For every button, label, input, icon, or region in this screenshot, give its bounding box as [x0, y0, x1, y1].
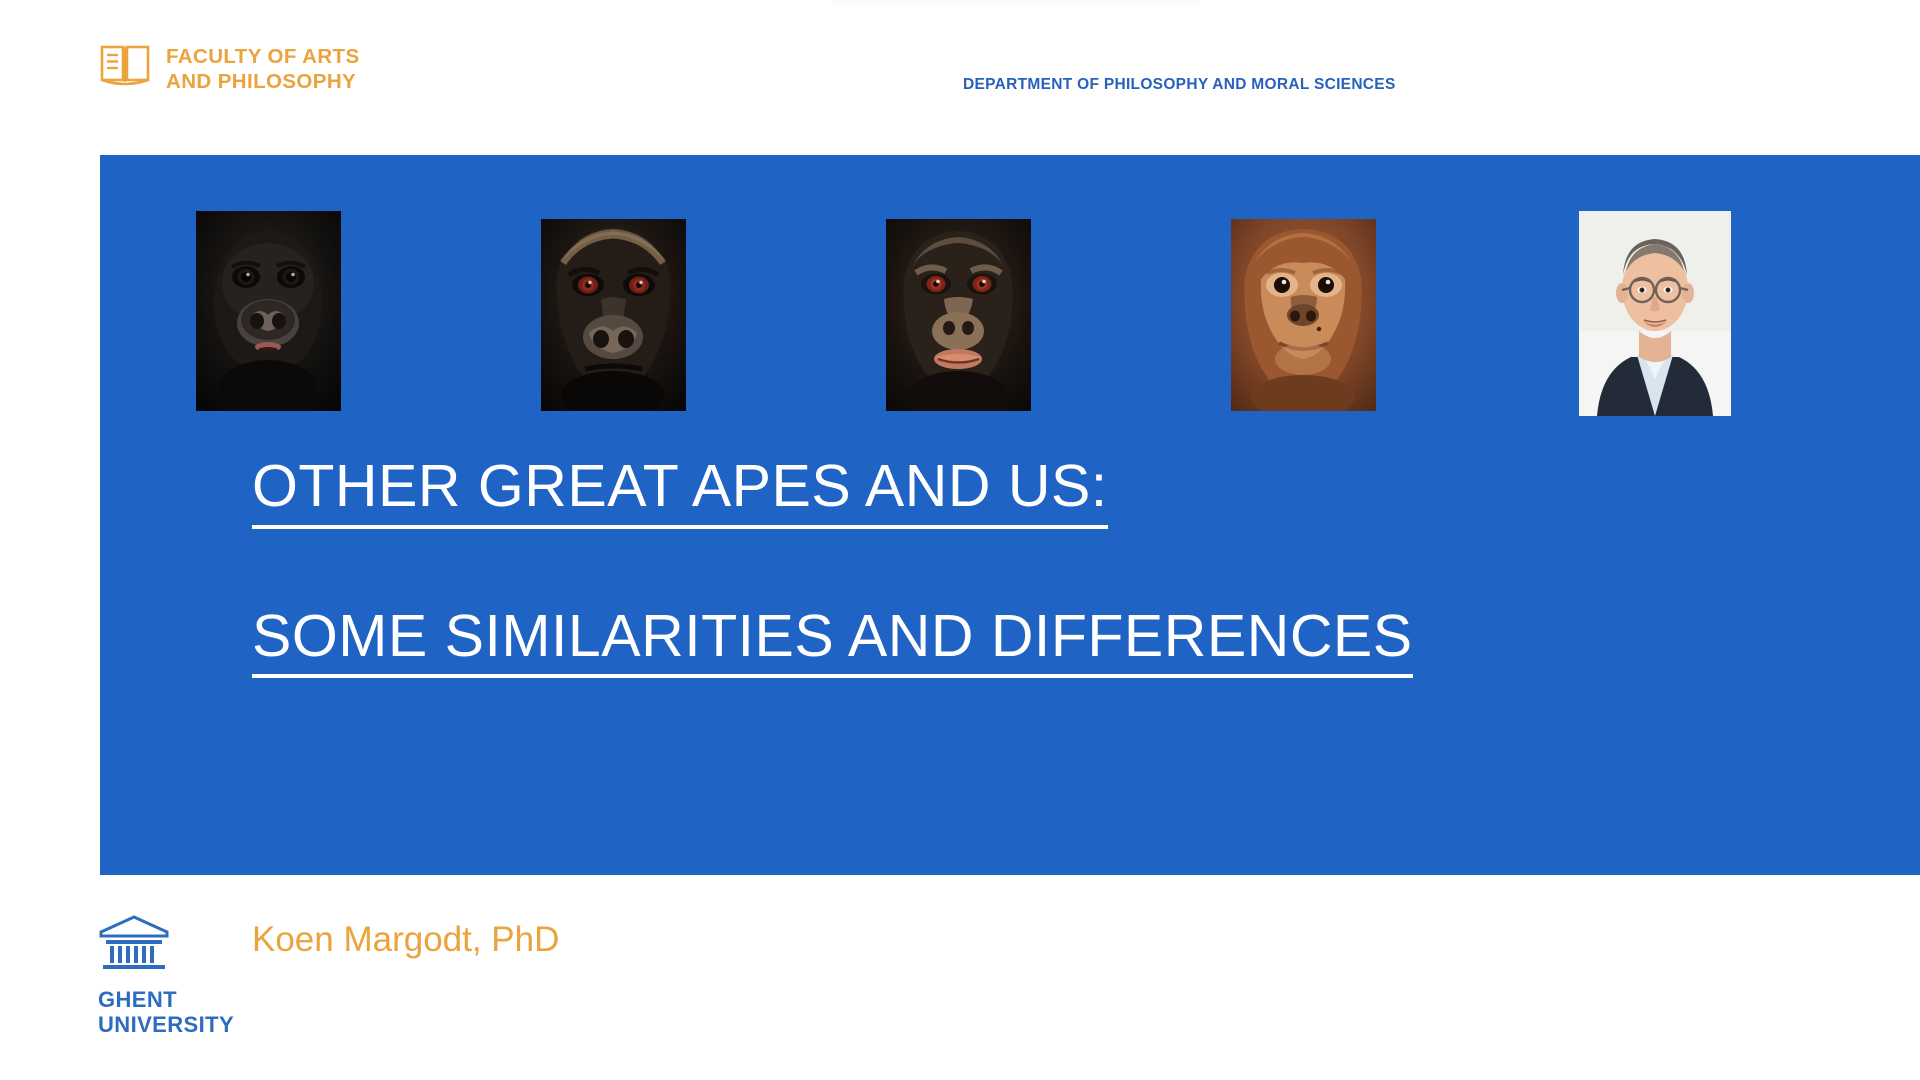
- slide-title-line-1: OTHER GREAT APES AND US:: [252, 455, 1108, 529]
- human-portrait-photo: [1579, 211, 1731, 416]
- slide-author: Koen Margodt, PhD: [252, 920, 559, 960]
- faculty-logo-label: FACULTY OF ARTS AND PHILOSOPHY: [166, 44, 360, 94]
- slide-title-block: OTHER GREAT APES AND US: SOME SIMILARITI…: [252, 455, 1413, 678]
- faculty-logo: FACULTY OF ARTS AND PHILOSOPHY: [100, 44, 360, 94]
- title-panel: OTHER GREAT APES AND US: SOME SIMILARITI…: [100, 155, 1920, 875]
- gorilla-infant-photo: [196, 211, 341, 411]
- slide-title-line-2: SOME SIMILARITIES AND DIFFERENCES: [252, 605, 1413, 679]
- great-ape-photo-strip: [196, 211, 1826, 416]
- gorilla-adult-photo: [541, 219, 686, 411]
- open-book-icon: [100, 44, 152, 88]
- department-header: DEPARTMENT OF PHILOSOPHY AND MORAL SCIEN…: [963, 76, 1396, 94]
- ghent-university-logo: GHENT UNIVERSITY: [98, 915, 234, 1037]
- presentation-slide: FACULTY OF ARTS AND PHILOSOPHY DEPARTMEN…: [0, 0, 1920, 1080]
- ghent-university-label: GHENT UNIVERSITY: [98, 987, 234, 1037]
- classical-building-icon: [98, 915, 170, 973]
- chimpanzee-photo: [886, 219, 1031, 411]
- orangutan-photo: [1231, 219, 1376, 411]
- top-edge-strip: [832, 0, 1200, 5]
